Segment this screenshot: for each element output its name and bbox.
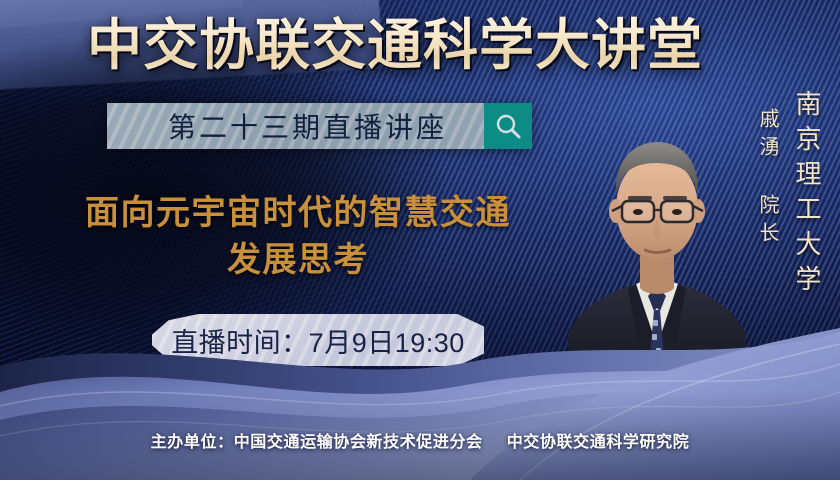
footer-organizer-1: 中国交通运输协会新技术促进分会: [234, 434, 483, 451]
lecture-title-line-1: 面向元宇宙时代的智慧交通: [85, 194, 511, 232]
series-label: 第二十三期直播讲座: [107, 103, 484, 149]
speaker-name-title: 戚湧 院长: [753, 108, 782, 250]
footer-organizers: 主办单位：中国交通运输协会新技术促进分会中交协联交通科学研究院: [0, 428, 840, 452]
series-bar: 第二十三期直播讲座: [107, 103, 532, 149]
page-title: 中交协联交通科学大讲堂: [0, 15, 790, 75]
speaker-affiliation: 南京理工大学: [789, 90, 826, 300]
live-lecture-poster: 中交协联交通科学大讲堂 第二十三期直播讲座 面向元宇宙时代的智慧交通 发展思考 …: [0, 0, 840, 480]
search-icon[interactable]: [484, 103, 532, 149]
footer-prefix: 主办单位：: [151, 434, 234, 451]
footer-organizer-2: 中交协联交通科学研究院: [507, 434, 690, 451]
